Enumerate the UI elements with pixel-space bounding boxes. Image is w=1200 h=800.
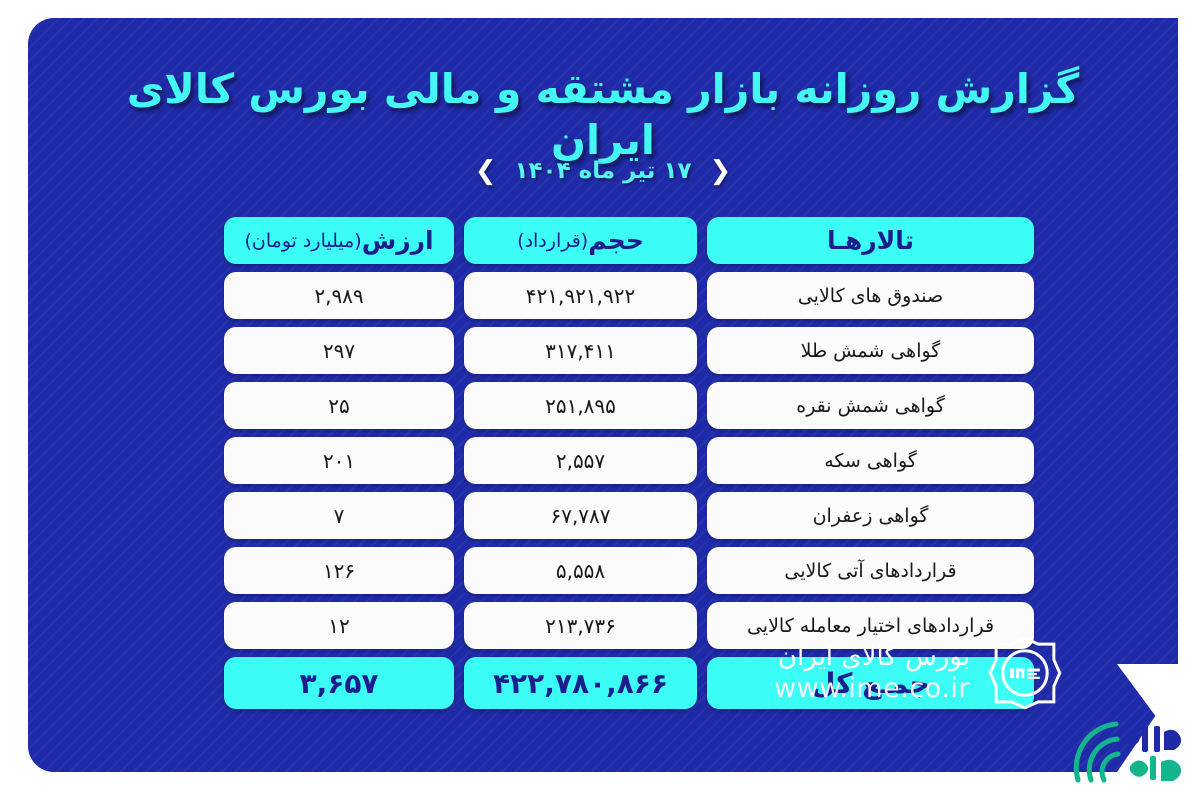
cell-hall: صندوق های کالایی — [707, 272, 1034, 319]
chevron-right-icon: ❮ — [710, 158, 732, 184]
header-volume-sub: (قرارداد) — [517, 230, 588, 252]
chevron-left-icon: ❯ — [475, 158, 497, 184]
cell-volume: ۲۵۱,۸۹۵ — [464, 382, 697, 429]
date-bar: ❮ ۱۷ تیر ماه ۱۴۰۴ ❯ — [28, 158, 1178, 184]
report-date: ۱۷ تیر ماه ۱۴۰۴ — [514, 158, 691, 184]
ime-logo-icon — [988, 636, 1062, 710]
table-row: قراردادهای آتی کالایی ۵,۵۵۸ ۱۲۶ — [224, 547, 1034, 594]
kalakhabar-watermark-icon — [1064, 694, 1192, 798]
header-volume-main: حجم — [588, 226, 644, 255]
total-volume: ۴۲۲,۷۸۰,۸۶۶ — [464, 657, 697, 709]
cell-hall: قراردادهای آتی کالایی — [707, 547, 1034, 594]
cell-volume: ۴۲۱,۹۲۱,۹۲۲ — [464, 272, 697, 319]
cell-value: ۲۵ — [224, 382, 454, 429]
footer-website[interactable]: www.ime.co.ir — [774, 673, 970, 704]
cell-volume: ۲۱۳,۷۳۶ — [464, 602, 697, 649]
table-row: گواهی شمش طلا ۳۱۷,۴۱۱ ۲۹۷ — [224, 327, 1034, 374]
cell-hall: گواهی شمش نقره — [707, 382, 1034, 429]
header-volume: حجم(قرارداد) — [464, 217, 697, 264]
page-title: گزارش روزانه بازار مشتقه و مالی بورس کال… — [28, 64, 1178, 167]
report-card: گزارش روزانه بازار مشتقه و مالی بورس کال… — [28, 18, 1178, 772]
cell-hall: گواهی سکه — [707, 437, 1034, 484]
total-value: ۳,۶۵۷ — [224, 657, 454, 709]
header-value-sub: (میلیارد تومان) — [244, 230, 361, 252]
cell-value: ۱۲ — [224, 602, 454, 649]
cell-hall: گواهی شمش طلا — [707, 327, 1034, 374]
header-value: ارزش(میلیارد تومان) — [224, 217, 454, 264]
footer: بورس کالای ایران www.ime.co.ir — [774, 636, 1062, 710]
cell-volume: ۵,۵۵۸ — [464, 547, 697, 594]
table-row: گواهی زعفران ۶۷,۷۸۷ ۷ — [224, 492, 1034, 539]
cell-volume: ۲,۵۵۷ — [464, 437, 697, 484]
cell-volume: ۶۷,۷۸۷ — [464, 492, 697, 539]
header-value-main: ارزش — [362, 226, 434, 255]
cell-value: ۲۹۷ — [224, 327, 454, 374]
header-hall: تالارهـا — [707, 217, 1034, 264]
cell-value: ۷ — [224, 492, 454, 539]
cell-hall: گواهی زعفران — [707, 492, 1034, 539]
cell-value: ۱۲۶ — [224, 547, 454, 594]
infographic-root: گزارش روزانه بازار مشتقه و مالی بورس کال… — [0, 0, 1200, 800]
table-row: گواهی شمش نقره ۲۵۱,۸۹۵ ۲۵ — [224, 382, 1034, 429]
cell-value: ۲۰۱ — [224, 437, 454, 484]
table-row: صندوق های کالایی ۴۲۱,۹۲۱,۹۲۲ ۲,۹۸۹ — [224, 272, 1034, 319]
table-header-row: تالارهـا حجم(قرارداد) ارزش(میلیارد تومان… — [224, 217, 1034, 264]
cell-volume: ۳۱۷,۴۱۱ — [464, 327, 697, 374]
cell-value: ۲,۹۸۹ — [224, 272, 454, 319]
footer-text-block: بورس کالای ایران www.ime.co.ir — [774, 641, 970, 706]
footer-organization: بورس کالای ایران — [778, 642, 970, 672]
table-row: گواهی سکه ۲,۵۵۷ ۲۰۱ — [224, 437, 1034, 484]
